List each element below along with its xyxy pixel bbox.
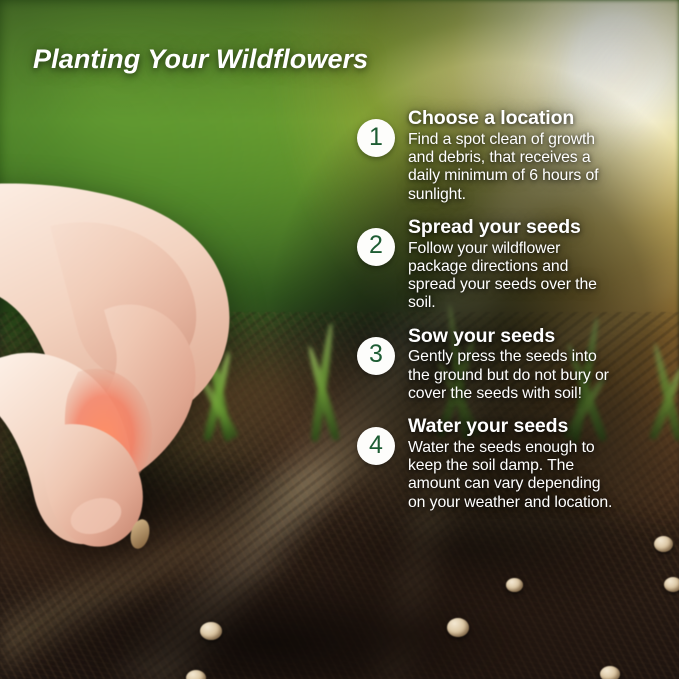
step-description-2: Follow your wildflower package direction… bbox=[408, 240, 613, 313]
seed-on-soil bbox=[506, 578, 523, 592]
step-item-1: 1 Choose a location Find a spot clean of… bbox=[357, 108, 613, 204]
step-content-1: Choose a location Find a spot clean of g… bbox=[408, 108, 613, 204]
hand-planting-seed-illustration bbox=[0, 160, 304, 560]
step-description-1: Find a spot clean of growth and debris, … bbox=[408, 131, 613, 204]
step-number-badge-2: 2 bbox=[357, 228, 395, 266]
seed-on-soil bbox=[654, 536, 673, 552]
step-number-badge-3: 3 bbox=[357, 337, 395, 375]
step-item-4: 4 Water your seeds Water the seeds enoug… bbox=[357, 416, 613, 512]
step-content-4: Water your seeds Water the seeds enough … bbox=[408, 416, 613, 512]
page-title: Planting Your Wildflowers bbox=[33, 44, 368, 75]
seed-on-soil bbox=[600, 666, 620, 679]
step-title-1: Choose a location bbox=[408, 108, 613, 130]
seed-on-soil bbox=[186, 670, 206, 679]
step-item-3: 3 Sow your seeds Gently press the seeds … bbox=[357, 326, 613, 404]
step-description-4: Water the seeds enough to keep the soil … bbox=[408, 439, 613, 512]
steps-list: 1 Choose a location Find a spot clean of… bbox=[357, 108, 613, 512]
step-number-badge-1: 1 bbox=[357, 119, 395, 157]
seed-on-soil bbox=[447, 618, 469, 637]
step-title-4: Water your seeds bbox=[408, 416, 613, 438]
step-title-3: Sow your seeds bbox=[408, 326, 613, 348]
step-content-2: Spread your seeds Follow your wildflower… bbox=[408, 217, 613, 313]
wildflower-planting-infographic: Planting Your Wildflowers 1 Choose a loc… bbox=[0, 0, 679, 679]
step-number-badge-4: 4 bbox=[357, 427, 395, 465]
seed-on-soil bbox=[664, 577, 679, 592]
step-item-2: 2 Spread your seeds Follow your wildflow… bbox=[357, 217, 613, 313]
seed-on-soil bbox=[200, 622, 222, 640]
seedling-sprout bbox=[300, 318, 346, 442]
step-title-2: Spread your seeds bbox=[408, 217, 613, 239]
seedling-sprout bbox=[645, 338, 679, 442]
step-content-3: Sow your seeds Gently press the seeds in… bbox=[408, 326, 613, 404]
step-description-3: Gently press the seeds into the ground b… bbox=[408, 348, 613, 403]
